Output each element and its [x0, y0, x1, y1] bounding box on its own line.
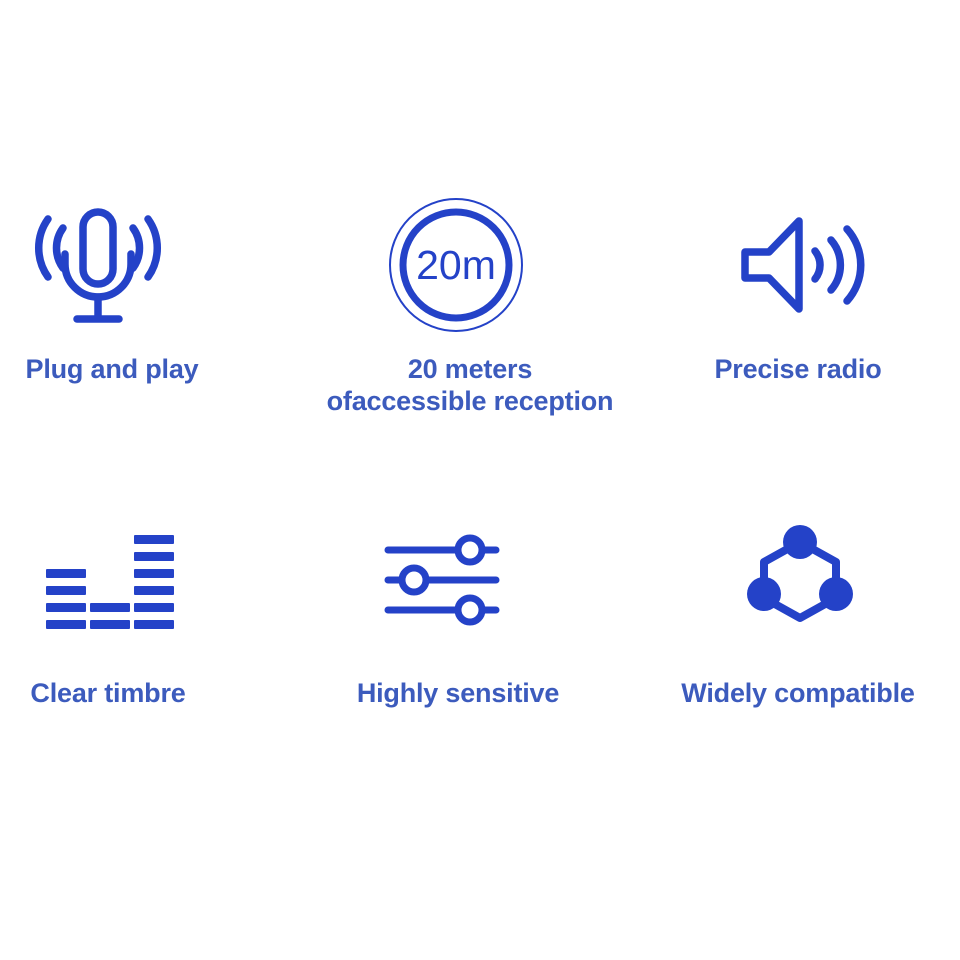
equalizer-bars-icon — [45, 510, 151, 650]
feature-label: Plug and play — [26, 354, 199, 386]
feature-item-clear-timbre: Clear timbre — [0, 510, 320, 830]
feature-item-precise-radio: Precise radio — [640, 190, 960, 510]
feature-item-highly-sensitive: Highly sensitive — [320, 510, 640, 830]
feature-grid: Plug and play 20m 20 meters ofaccessible… — [0, 190, 960, 830]
feature-infographic: Plug and play 20m 20 meters ofaccessible… — [0, 0, 960, 960]
feature-item-widely-compatible: Widely compatible — [640, 510, 960, 830]
feature-label: Highly sensitive — [357, 678, 559, 710]
feature-label: Precise radio — [715, 354, 882, 386]
feature-label: Widely compatible — [638, 678, 958, 710]
microphone-icon — [32, 190, 164, 340]
speaker-waves-icon — [739, 190, 859, 340]
feature-item-range: 20m 20 meters ofaccessible reception — [320, 190, 640, 510]
distance-value: 20m — [416, 242, 496, 288]
feature-label: Clear timbre — [30, 678, 185, 710]
network-nodes-icon — [748, 510, 852, 650]
sliders-icon — [384, 510, 500, 650]
distance-circle-icon: 20m — [386, 190, 526, 340]
feature-item-plug-and-play: Plug and play — [0, 190, 320, 510]
feature-label: 20 meters ofaccessible reception — [280, 354, 660, 418]
